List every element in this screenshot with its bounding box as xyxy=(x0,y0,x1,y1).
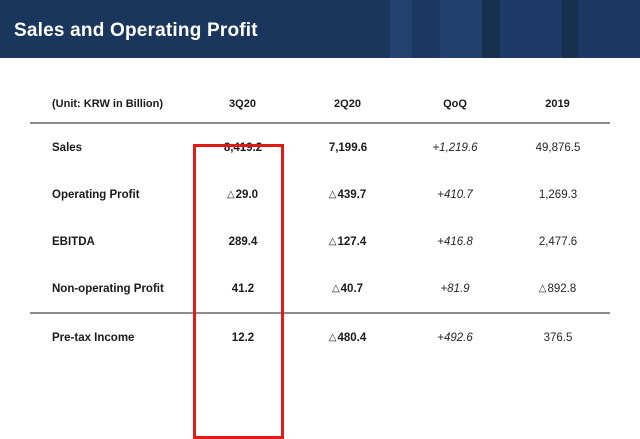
cell-qoq: +81.9 xyxy=(405,265,505,313)
cell-qoq: +410.7 xyxy=(405,171,505,218)
cell-value: 439.7 xyxy=(337,189,366,201)
table-body: Sales 8,419.2 7,199.6 +1,219.6 49,876.5 … xyxy=(30,123,610,361)
financial-summary-table: (Unit: KRW in Billion) 3Q20 2Q20 QoQ 201… xyxy=(30,86,610,361)
cell-2019: 376.5 xyxy=(505,313,610,361)
cell-3q20: 41.2 xyxy=(195,265,290,313)
negative-triangle-icon: △ xyxy=(227,189,235,200)
column-header-qoq: QoQ xyxy=(405,86,505,123)
cell-3q20: 8,419.2 xyxy=(195,123,290,171)
row-label: Non-operating Profit xyxy=(30,265,195,313)
cell-value: 12.2 xyxy=(232,332,254,344)
cell-value: 1,269.3 xyxy=(539,189,577,201)
cell-2019: 49,876.5 xyxy=(505,123,610,171)
cell-value: 29.0 xyxy=(236,189,258,201)
row-label: EBITDA xyxy=(30,218,195,265)
table-row: Non-operating Profit 41.2 △40.7 +81.9 △8… xyxy=(30,265,610,313)
table-row: Sales 8,419.2 7,199.6 +1,219.6 49,876.5 xyxy=(30,123,610,171)
cell-value: 40.7 xyxy=(341,283,363,295)
unit-label: (Unit: KRW in Billion) xyxy=(30,86,195,123)
cell-value: 480.4 xyxy=(337,332,366,344)
header-stripe xyxy=(390,0,412,58)
cell-2q20: △40.7 xyxy=(290,265,405,313)
cell-qoq: +492.6 xyxy=(405,313,505,361)
page-title: Sales and Operating Profit xyxy=(14,20,258,42)
cell-value: 376.5 xyxy=(544,332,573,344)
cell-qoq: +1,219.6 xyxy=(405,123,505,171)
cell-3q20: 12.2 xyxy=(195,313,290,361)
cell-2q20: 7,199.6 xyxy=(290,123,405,171)
table-row: Pre-tax Income 12.2 △480.4 +492.6 376.5 xyxy=(30,313,610,361)
cell-value: 127.4 xyxy=(337,236,366,248)
header-stripe xyxy=(482,0,500,58)
negative-triangle-icon: △ xyxy=(332,283,340,294)
cell-2q20: △439.7 xyxy=(290,171,405,218)
header-stripe xyxy=(412,0,440,58)
header-stripe xyxy=(578,0,640,58)
header-stripe xyxy=(440,0,482,58)
cell-value: 289.4 xyxy=(229,236,258,248)
row-label: Operating Profit xyxy=(30,171,195,218)
row-label: Pre-tax Income xyxy=(30,313,195,361)
cell-3q20: 289.4 xyxy=(195,218,290,265)
table-row: Operating Profit △29.0 △439.7 +410.7 1,2… xyxy=(30,171,610,218)
column-header-2q20: 2Q20 xyxy=(290,86,405,123)
header-band: Sales and Operating Profit xyxy=(0,0,640,58)
negative-triangle-icon: △ xyxy=(329,236,337,247)
cell-value: 41.2 xyxy=(232,283,254,295)
cell-value: 8,419.2 xyxy=(224,142,262,154)
negative-triangle-icon: △ xyxy=(329,332,337,343)
cell-value: 2,477.6 xyxy=(539,236,577,248)
row-label: Sales xyxy=(30,123,195,171)
cell-value: 892.8 xyxy=(547,283,576,295)
table-container: (Unit: KRW in Billion) 3Q20 2Q20 QoQ 201… xyxy=(0,58,640,400)
cell-2019: 1,269.3 xyxy=(505,171,610,218)
cell-2019: △892.8 xyxy=(505,265,610,313)
table-header-row: (Unit: KRW in Billion) 3Q20 2Q20 QoQ 201… xyxy=(30,86,610,123)
cell-2019: 2,477.6 xyxy=(505,218,610,265)
column-header-3q20: 3Q20 xyxy=(195,86,290,123)
cell-value: 49,876.5 xyxy=(536,142,581,154)
header-stripe xyxy=(500,0,562,58)
table-row: EBITDA 289.4 △127.4 +416.8 2,477.6 xyxy=(30,218,610,265)
negative-triangle-icon: △ xyxy=(539,283,547,294)
cell-2q20: △480.4 xyxy=(290,313,405,361)
column-header-2019: 2019 xyxy=(505,86,610,123)
cell-2q20: △127.4 xyxy=(290,218,405,265)
negative-triangle-icon: △ xyxy=(329,189,337,200)
cell-value: 7,199.6 xyxy=(329,142,367,154)
header-stripe xyxy=(562,0,578,58)
cell-3q20: △29.0 xyxy=(195,171,290,218)
cell-qoq: +416.8 xyxy=(405,218,505,265)
